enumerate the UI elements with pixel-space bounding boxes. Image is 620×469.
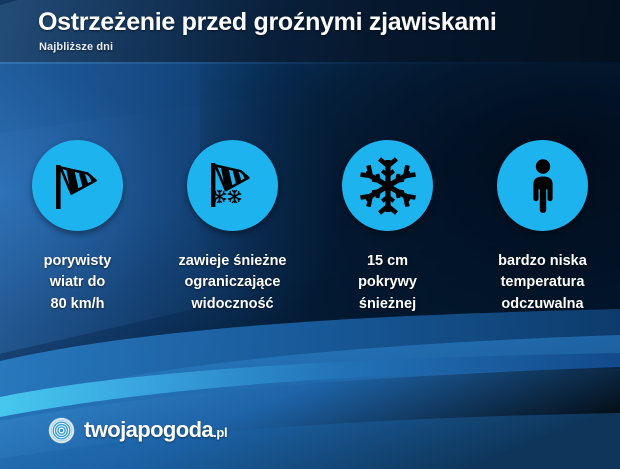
person-glyph xyxy=(516,157,570,215)
warning-label: 15 cm pokrywy śnieżnej xyxy=(358,251,417,315)
warning-label: porywisty wiatr do 80 km/h xyxy=(44,251,112,315)
windsock-snow-icon xyxy=(187,140,278,231)
logo-text: twojapogoda.pl xyxy=(84,419,227,441)
wave-svg xyxy=(0,309,620,469)
warning-item-snow-drift: zawieje śnieżne ograniczające widoczność xyxy=(155,140,310,315)
page-subtitle: Najbliższe dni xyxy=(39,41,113,53)
logo-name: twojapogoda xyxy=(84,417,213,442)
warning-item-wind-chill: bardzo niska temperatura odczuwalna xyxy=(465,140,620,315)
warning-item-wind: porywisty wiatr do 80 km/h xyxy=(0,140,155,315)
site-logo[interactable]: twojapogoda.pl xyxy=(48,415,227,445)
warning-list: porywisty wiatr do 80 km/h xyxy=(0,140,620,315)
windsock-snow-glyph xyxy=(202,155,264,217)
logo-tld: .pl xyxy=(213,425,227,440)
snowflake-icon xyxy=(342,140,433,231)
infographic-root: Ostrzeżenie przed groźnymi zjawiskami Na… xyxy=(0,0,620,469)
page-title: Ostrzeżenie przed groźnymi zjawiskami xyxy=(38,8,497,37)
windsock-icon xyxy=(32,140,123,231)
background-wave-group xyxy=(0,309,620,469)
person-icon xyxy=(497,140,588,231)
windsock-glyph xyxy=(47,155,109,217)
warning-label: zawieje śnieżne ograniczające widoczność xyxy=(179,251,287,315)
header-divider xyxy=(0,62,620,64)
warning-item-snow-cover: 15 cm pokrywy śnieżnej xyxy=(310,140,465,315)
warning-label: bardzo niska temperatura odczuwalna xyxy=(498,251,587,315)
snowflake-glyph xyxy=(358,156,418,216)
radar-target-icon xyxy=(48,417,75,444)
